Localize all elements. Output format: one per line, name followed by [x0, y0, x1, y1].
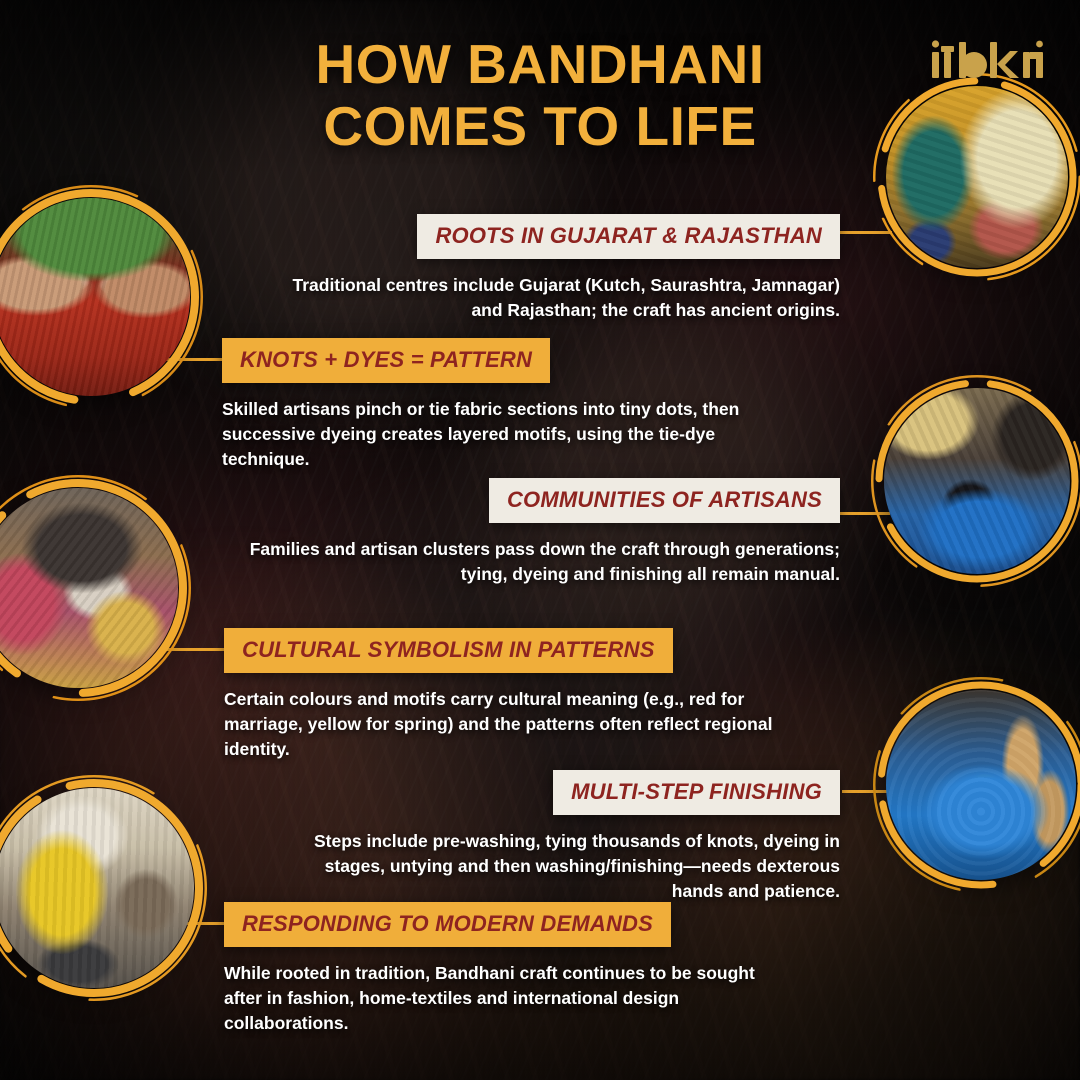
step-roots-body: Traditional centres include Gujarat (Kut…: [270, 273, 840, 323]
page-title: HOW BANDHANI COMES TO LIFE: [0, 34, 1080, 157]
step-symbolism-header: CULTURAL SYMBOLISM IN PATTERNS: [224, 628, 673, 673]
step-symbolism: CULTURAL SYMBOLISM IN PATTERNS Certain c…: [224, 628, 794, 762]
photo-woman-artisan-disc: [0, 488, 178, 688]
step-symbolism-body: Certain colours and motifs carry cultura…: [224, 687, 794, 762]
connector-line-communities: [838, 512, 890, 515]
photo-dyer-tub: [884, 388, 1070, 574]
connector-line-finishing: [842, 790, 892, 793]
photo-dye-vat-disc: [886, 690, 1076, 880]
step-finishing-header: MULTI-STEP FINISHING: [553, 770, 840, 815]
step-modern-body: While rooted in tradition, Bandhani craf…: [224, 961, 794, 1036]
step-modern-header: RESPONDING TO MODERN DEMANDS: [224, 902, 671, 947]
infographic-poster: HOW BANDHANI COMES TO LIFE: [0, 0, 1080, 1080]
step-knots: KNOTS + DYES = PATTERN Skilled artisans …: [222, 338, 802, 472]
step-knots-header: KNOTS + DYES = PATTERN: [222, 338, 550, 383]
photo-hands-tying-disc: [0, 198, 190, 396]
connector-line-roots: [836, 231, 892, 234]
step-communities-body: Families and artisan clusters pass down …: [232, 537, 840, 587]
brand-logo: [928, 38, 1048, 86]
itokri-wordmark-icon: [928, 38, 1048, 86]
photo-woman-artisan: [0, 488, 178, 688]
step-finishing: MULTI-STEP FINISHING Steps include pre-w…: [300, 770, 840, 904]
photo-hands-tying: [0, 198, 190, 396]
step-modern: RESPONDING TO MODERN DEMANDS While roote…: [224, 902, 794, 1036]
photo-dyer-tub-disc: [884, 388, 1070, 574]
step-knots-body: Skilled artisans pinch or tie fabric sec…: [222, 397, 802, 472]
step-communities-header: COMMUNITIES OF ARTISANS: [489, 478, 840, 523]
step-finishing-body: Steps include pre-washing, tying thousan…: [300, 829, 840, 904]
photo-dye-vat: [886, 690, 1076, 880]
step-roots-header: ROOTS IN GUJARAT & RAJASTHAN: [417, 214, 840, 259]
step-roots: ROOTS IN GUJARAT & RAJASTHAN Traditional…: [270, 214, 840, 323]
photo-yellow-dye-disc: [0, 788, 194, 988]
step-communities: COMMUNITIES OF ARTISANS Families and art…: [232, 478, 840, 587]
photo-yellow-dye: [0, 788, 194, 988]
title-line-1: HOW BANDHANI: [315, 33, 764, 95]
title-line-2: COMES TO LIFE: [0, 96, 1080, 158]
